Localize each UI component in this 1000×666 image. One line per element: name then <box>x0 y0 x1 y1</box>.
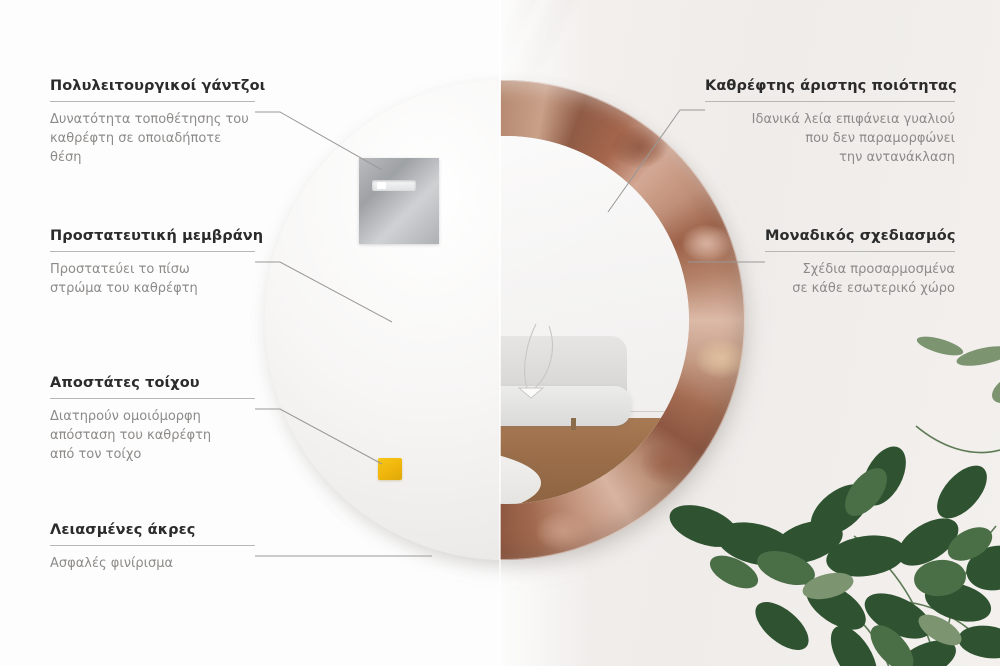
hook-slot-icon <box>372 180 416 191</box>
callout-description: Ασφαλές φινίρισμα <box>50 554 255 573</box>
reflected-sofa-seat <box>500 386 631 426</box>
callout-description: Σχέδια προσαρμοσμένα σε κάθε εσωτερικό χ… <box>765 260 955 298</box>
callout-spacers: Αποστάτες τοίχου Διατηρούν ομοιόμορφη απ… <box>50 375 255 464</box>
hanging-plate <box>359 158 439 244</box>
half-split-divider <box>499 0 501 666</box>
reflected-sofa-back <box>500 336 627 408</box>
callout-title: Πολυλειτουργικοί γάντζοι <box>50 78 255 94</box>
callout-membrane: Προστατευτική μεμβράνη Προστατεύει το πί… <box>50 228 255 298</box>
callout-rule <box>50 545 255 546</box>
callout-title: Μοναδικός σχεδιασμός <box>765 228 955 244</box>
callout-rule <box>705 101 955 102</box>
callout-title: Αποστάτες τοίχου <box>50 375 255 391</box>
infographic-canvas: Πολυλειτουργικοί γάντζοι Δυνατότητα τοπο… <box>0 0 1000 666</box>
callout-design: Μοναδικός σχεδιασμός Σχέδια προσαρμοσμέν… <box>765 228 955 298</box>
yellow-spacer <box>378 458 402 480</box>
callout-description: Διατηρούν ομοιόμορφη απόσταση του καθρέφ… <box>50 407 255 464</box>
callout-title: Καθρέφτης άριστης ποιότητας <box>705 78 955 94</box>
reflected-sofa-leg <box>571 418 576 430</box>
callout-rule <box>50 101 255 102</box>
green-foliage <box>640 330 1000 666</box>
callout-hooks: Πολυλειτουργικοί γάντζοι Δυνατότητα τοπο… <box>50 78 255 167</box>
callout-description: Δυνατότητα τοποθέτησης του καθρέφτη σε ο… <box>50 110 255 167</box>
reflected-rug <box>500 446 541 504</box>
callout-description: Προστατεύει το πίσω στρώμα του καθρέφτη <box>50 260 255 298</box>
callout-description: Ιδανικά λεία επιφάνεια γυαλιού που δεν π… <box>705 110 955 167</box>
callout-rule <box>765 251 955 252</box>
callout-title: Προστατευτική μεμβράνη <box>50 228 255 244</box>
callout-rule <box>50 251 255 252</box>
callout-title: Λειασμένες άκρες <box>50 522 255 538</box>
callout-quality: Καθρέφτης άριστης ποιότητας Ιδανικά λεία… <box>705 78 955 167</box>
callout-rule <box>50 398 255 399</box>
callout-edges: Λειασμένες άκρες Ασφαλές φινίρισμα <box>50 522 255 573</box>
